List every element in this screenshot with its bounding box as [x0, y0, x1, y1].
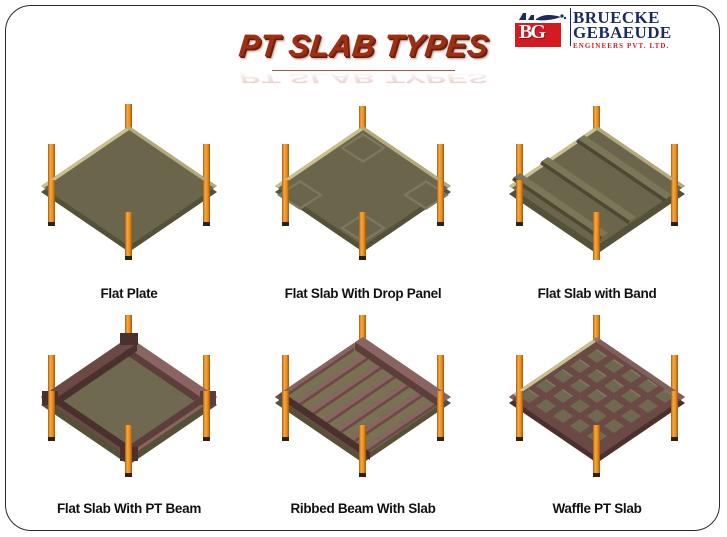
figure-grid: Flat Plate [12, 92, 715, 522]
figure-caption: Flat Slab with Band [480, 286, 714, 301]
figure-card-pt-beam: Flat Slab With PT Beam [12, 307, 246, 522]
figure-caption: Flat Plate [12, 286, 246, 301]
figure-caption: Flat Slab With PT Beam [12, 501, 246, 516]
drop-panel-illustration [246, 92, 480, 270]
ribbed-illustration [246, 307, 480, 485]
title-underline [272, 70, 455, 71]
slab-bands [512, 135, 672, 240]
figure-caption: Ribbed Beam With Slab [246, 501, 480, 516]
flat-plate-illustration [12, 92, 246, 270]
slide: BG BRUECKE GEBAEUDE ENGINEERS PVT. LTD. … [0, 0, 727, 537]
waffle-illustration [480, 307, 714, 485]
figure-card-band: Flat Slab with Band [480, 92, 714, 307]
figure-waffle [480, 307, 714, 485]
slide-title-wrap: PT SLAB TYPES [0, 28, 727, 64]
figure-caption: Flat Slab With Drop Panel [246, 286, 480, 301]
band-illustration [480, 92, 714, 270]
figure-drop-panel [246, 92, 480, 270]
figure-card-drop-panel: Flat Slab With Drop Panel [246, 92, 480, 307]
slide-title-reflection: PT SLAB TYPES [0, 60, 727, 96]
figure-caption: Waffle PT Slab [480, 501, 714, 516]
figure-flat-plate [12, 92, 246, 270]
figure-band [480, 92, 714, 270]
pt-beam-illustration [12, 307, 246, 485]
figure-pt-beam [12, 307, 246, 485]
page-title: PT SLAB TYPES [237, 28, 490, 64]
page-title-reflection: PT SLAB TYPES [238, 70, 489, 86]
figure-card-ribbed: Ribbed Beam With Slab [246, 307, 480, 522]
figure-ribbed [246, 307, 480, 485]
figure-card-waffle: Waffle PT Slab [480, 307, 714, 522]
figure-card-flat-plate: Flat Plate [12, 92, 246, 307]
